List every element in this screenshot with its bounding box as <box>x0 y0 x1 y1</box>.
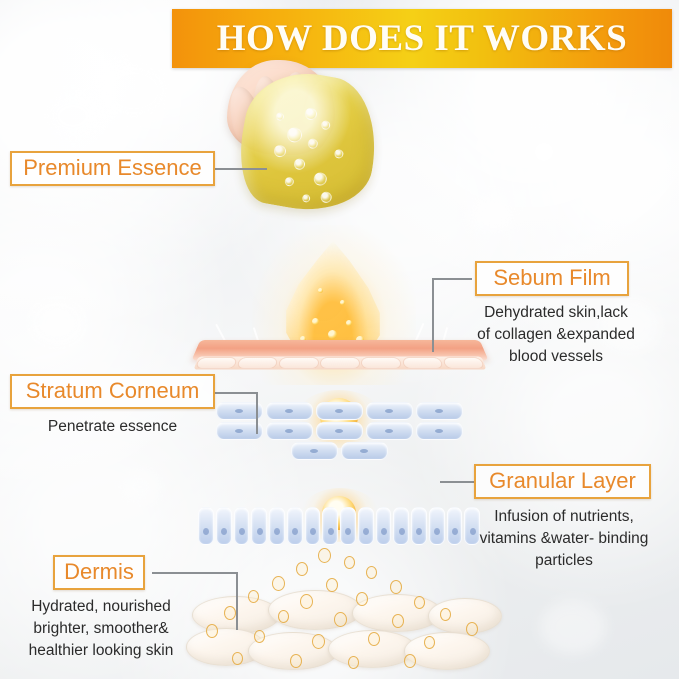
dermis-cell <box>404 632 490 670</box>
gold-particle <box>328 330 337 339</box>
bubble <box>275 112 284 121</box>
nutrient-particle <box>334 612 347 627</box>
callout-premium-essence-label: Premium Essence <box>23 156 202 180</box>
callout-premium-essence[interactable]: Premium Essence <box>10 151 215 186</box>
bubble <box>284 176 294 186</box>
granular-cell <box>393 507 409 545</box>
bokeh-highlight <box>30 300 84 346</box>
granular-cell <box>340 507 356 545</box>
bokeh-highlight <box>120 470 160 504</box>
corneum-cell <box>266 402 313 420</box>
granular-cell <box>305 507 321 545</box>
granular-cell <box>322 507 338 545</box>
callout-granular-layer-description: Infusion of nutrients, vitamins &water- … <box>459 506 669 572</box>
corneum-cell <box>416 402 463 420</box>
callout-sebum-film[interactable]: Sebum Film <box>475 261 629 296</box>
nutrient-particle <box>326 578 338 592</box>
granular-layer-illustration <box>198 505 480 547</box>
nutrient-particle <box>348 656 359 669</box>
dermis-cell <box>428 598 502 634</box>
skin-cell <box>361 358 402 369</box>
granular-cell <box>234 507 250 545</box>
nutrient-particle <box>278 610 289 623</box>
nutrient-particle <box>466 622 478 636</box>
nutrient-particle <box>272 576 285 591</box>
nutrient-particle <box>254 630 265 643</box>
gold-particle <box>340 300 345 305</box>
poster-root: HOW DOES IT WORKS <box>0 0 679 679</box>
gold-particle <box>318 288 323 293</box>
nutrient-particle <box>206 624 218 638</box>
bokeh-highlight <box>532 140 556 164</box>
callout-sebum-film-label: Sebum Film <box>493 266 610 290</box>
bubble <box>320 120 330 130</box>
callout-stratum-corneum-label: Stratum Corneum <box>26 379 200 403</box>
nutrient-particle <box>248 590 259 603</box>
nutrient-particle <box>440 608 451 621</box>
nutrient-particle <box>232 652 243 665</box>
nutrient-particle <box>296 562 308 576</box>
connector-dermis <box>152 572 238 574</box>
bubble <box>320 191 333 204</box>
callout-stratum-corneum[interactable]: Stratum Corneum <box>10 374 215 409</box>
granular-cell <box>287 507 303 545</box>
bubble <box>293 158 306 171</box>
bubble <box>302 194 311 203</box>
granular-cell <box>216 507 232 545</box>
bubble <box>286 126 303 143</box>
gold-particle <box>346 320 352 326</box>
connector-premium-essence <box>215 168 267 170</box>
bubble <box>313 171 328 186</box>
connector-dermis-vertical <box>236 572 238 630</box>
nutrient-particle <box>344 556 355 569</box>
bubble <box>304 107 318 121</box>
corneum-cell <box>291 442 338 460</box>
nutrient-particle <box>356 592 368 606</box>
connector-sebum-film <box>432 278 472 280</box>
corneum-cell <box>416 422 463 440</box>
callout-stratum-corneum-description: Penetrate essence <box>10 416 215 438</box>
nutrient-particle <box>390 580 402 594</box>
corneum-cell <box>266 422 313 440</box>
nutrient-particle <box>404 654 416 668</box>
nutrient-particle <box>414 596 425 609</box>
bokeh-highlight <box>470 196 514 234</box>
corneum-cell <box>366 422 413 440</box>
connector-sebum-film-vertical <box>432 278 434 352</box>
bokeh-highlight <box>596 96 612 112</box>
stratum-corneum-illustration <box>200 411 478 451</box>
granular-cell <box>376 507 392 545</box>
callout-granular-layer[interactable]: Granular Layer <box>474 464 651 499</box>
granular-cell <box>251 507 267 545</box>
bubble <box>273 144 287 158</box>
bubble <box>334 149 344 159</box>
corneum-cell <box>341 442 388 460</box>
nutrient-particle <box>290 654 302 668</box>
connector-stratum-corneum <box>214 392 258 394</box>
connector-stratum-corneum-vertical <box>256 392 258 434</box>
granular-cell <box>269 507 285 545</box>
skin-cell <box>195 358 238 369</box>
sebum-film-cells <box>193 356 486 369</box>
skin-cell <box>278 358 319 369</box>
callout-dermis[interactable]: Dermis <box>53 555 145 590</box>
nutrient-particle <box>300 594 313 609</box>
bokeh-highlight <box>540 600 606 654</box>
corneum-cell <box>366 402 413 420</box>
bokeh-highlight <box>44 92 102 140</box>
granular-cell <box>358 507 374 545</box>
title-banner: HOW DOES IT WORKS <box>172 9 672 68</box>
callout-dermis-description: Hydrated, nourished brighter, smoother& … <box>10 596 192 662</box>
connector-granular-layer <box>440 481 474 483</box>
bubble <box>307 138 319 150</box>
nutrient-particle <box>366 566 377 579</box>
skin-cell <box>237 358 279 369</box>
skin-cell <box>402 358 444 369</box>
nutrient-particle <box>368 632 380 646</box>
corneum-cell <box>316 402 363 420</box>
granular-cell <box>429 507 445 545</box>
callout-sebum-film-description: Dehydrated skin,lack of collagen &expand… <box>463 302 649 368</box>
callout-dermis-label: Dermis <box>64 560 134 584</box>
corneum-cell <box>316 422 363 440</box>
nutrient-particle <box>312 634 325 649</box>
nutrient-particle <box>392 614 404 628</box>
nutrient-particle <box>224 606 236 620</box>
nutrient-particle <box>318 548 331 563</box>
callout-granular-layer-label: Granular Layer <box>489 469 636 493</box>
page-title: HOW DOES IT WORKS <box>217 17 628 60</box>
nutrient-particle <box>424 636 435 649</box>
bokeh-highlight <box>96 60 172 122</box>
skin-cell <box>320 358 360 369</box>
gold-particle <box>312 318 319 325</box>
granular-cell <box>411 507 427 545</box>
granular-cell <box>198 507 214 545</box>
